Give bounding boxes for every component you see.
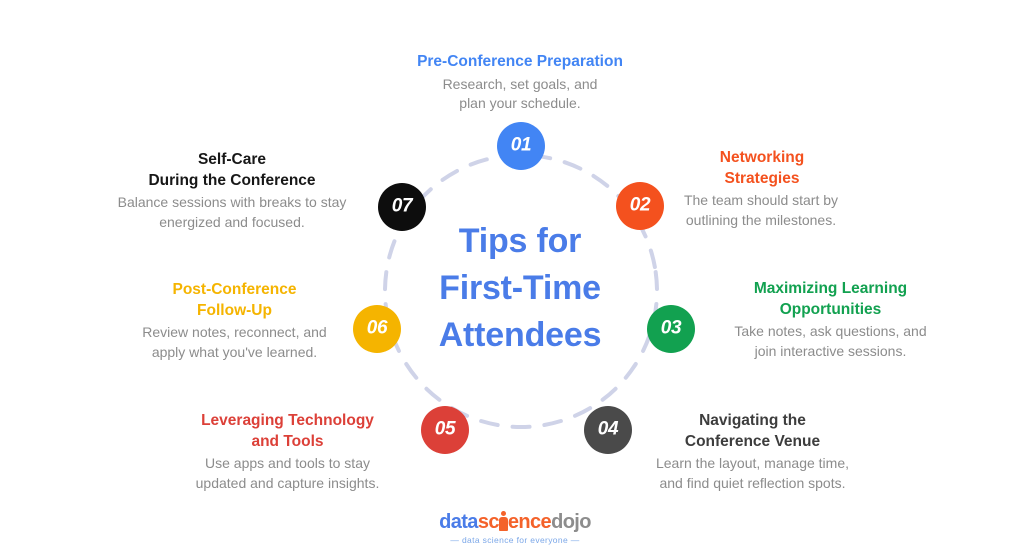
person-icon — [499, 512, 508, 532]
center-title: Tips for First-Time Attendees — [396, 218, 644, 359]
step-node-04-number: 04 — [598, 419, 619, 441]
step-block-05: Leveraging Technology and Tools Use apps… — [175, 411, 400, 493]
step-block-06-body: Review notes, reconnect, and apply what … — [127, 323, 342, 362]
infographic-canvas: Tips for First-Time Attendees 01 02 03 0… — [0, 0, 1030, 554]
center-title-line-2: First-Time — [396, 265, 644, 312]
step-node-05-number: 05 — [435, 419, 456, 441]
step-block-07-body: Balance sessions with breaks to stay ene… — [108, 193, 356, 232]
step-node-07-number: 07 — [392, 196, 413, 218]
step-block-06-heading: Post-Conference Follow-Up — [127, 280, 342, 321]
step-block-02: Networking Strategies The team should st… — [672, 148, 852, 230]
logo-tagline: — data science for everyone — — [0, 536, 1030, 545]
step-block-01-heading: Pre-Conference Preparation — [340, 52, 700, 73]
step-node-01-number: 01 — [511, 135, 532, 157]
step-block-06: Post-Conference Follow-Up Review notes, … — [127, 280, 342, 362]
step-node-03-number: 03 — [661, 318, 682, 340]
step-block-07: Self-Care During the Conference Balance … — [108, 150, 356, 232]
logo-part-dojo: dojo — [551, 511, 591, 533]
step-node-04[interactable]: 04 — [584, 406, 632, 454]
step-node-06-number: 06 — [367, 318, 388, 340]
step-node-01[interactable]: 01 — [497, 122, 545, 170]
step-block-05-body: Use apps and tools to stay updated and c… — [175, 454, 400, 493]
step-block-04: Navigating the Conference Venue Learn th… — [640, 411, 865, 493]
step-block-03-heading: Maximizing Learning Opportunities — [718, 279, 943, 320]
step-node-03[interactable]: 03 — [647, 305, 695, 353]
center-title-line-1: Tips for — [396, 218, 644, 265]
step-block-02-body: The team should start by outlining the m… — [656, 191, 866, 230]
logo-part-ence: ence — [508, 511, 551, 533]
step-block-04-body: Learn the layout, manage time, and find … — [640, 454, 865, 493]
step-block-01: Pre-Conference Preparation Research, set… — [340, 52, 700, 113]
step-block-03-body: Take notes, ask questions, and join inte… — [718, 322, 943, 361]
step-block-01-body: Research, set goals, and plan your sched… — [340, 75, 700, 114]
step-block-02-heading: Networking Strategies — [672, 148, 852, 189]
step-block-07-heading: Self-Care During the Conference — [108, 150, 356, 191]
step-node-05[interactable]: 05 — [421, 406, 469, 454]
step-block-04-heading: Navigating the Conference Venue — [640, 411, 865, 452]
step-node-02-number: 02 — [630, 195, 651, 217]
logo-part-sc: sc — [478, 511, 499, 533]
step-block-03: Maximizing Learning Opportunities Take n… — [718, 279, 943, 361]
step-node-07[interactable]: 07 — [378, 183, 426, 231]
step-node-06[interactable]: 06 — [353, 305, 401, 353]
step-block-05-heading: Leveraging Technology and Tools — [175, 411, 400, 452]
logo-part-data: data — [439, 511, 478, 533]
center-title-line-3: Attendees — [396, 312, 644, 359]
datasciencedojo-logo[interactable]: datascencedojo — data science for everyo… — [0, 512, 1030, 545]
logo-wordmark: datascencedojo — [439, 512, 591, 532]
